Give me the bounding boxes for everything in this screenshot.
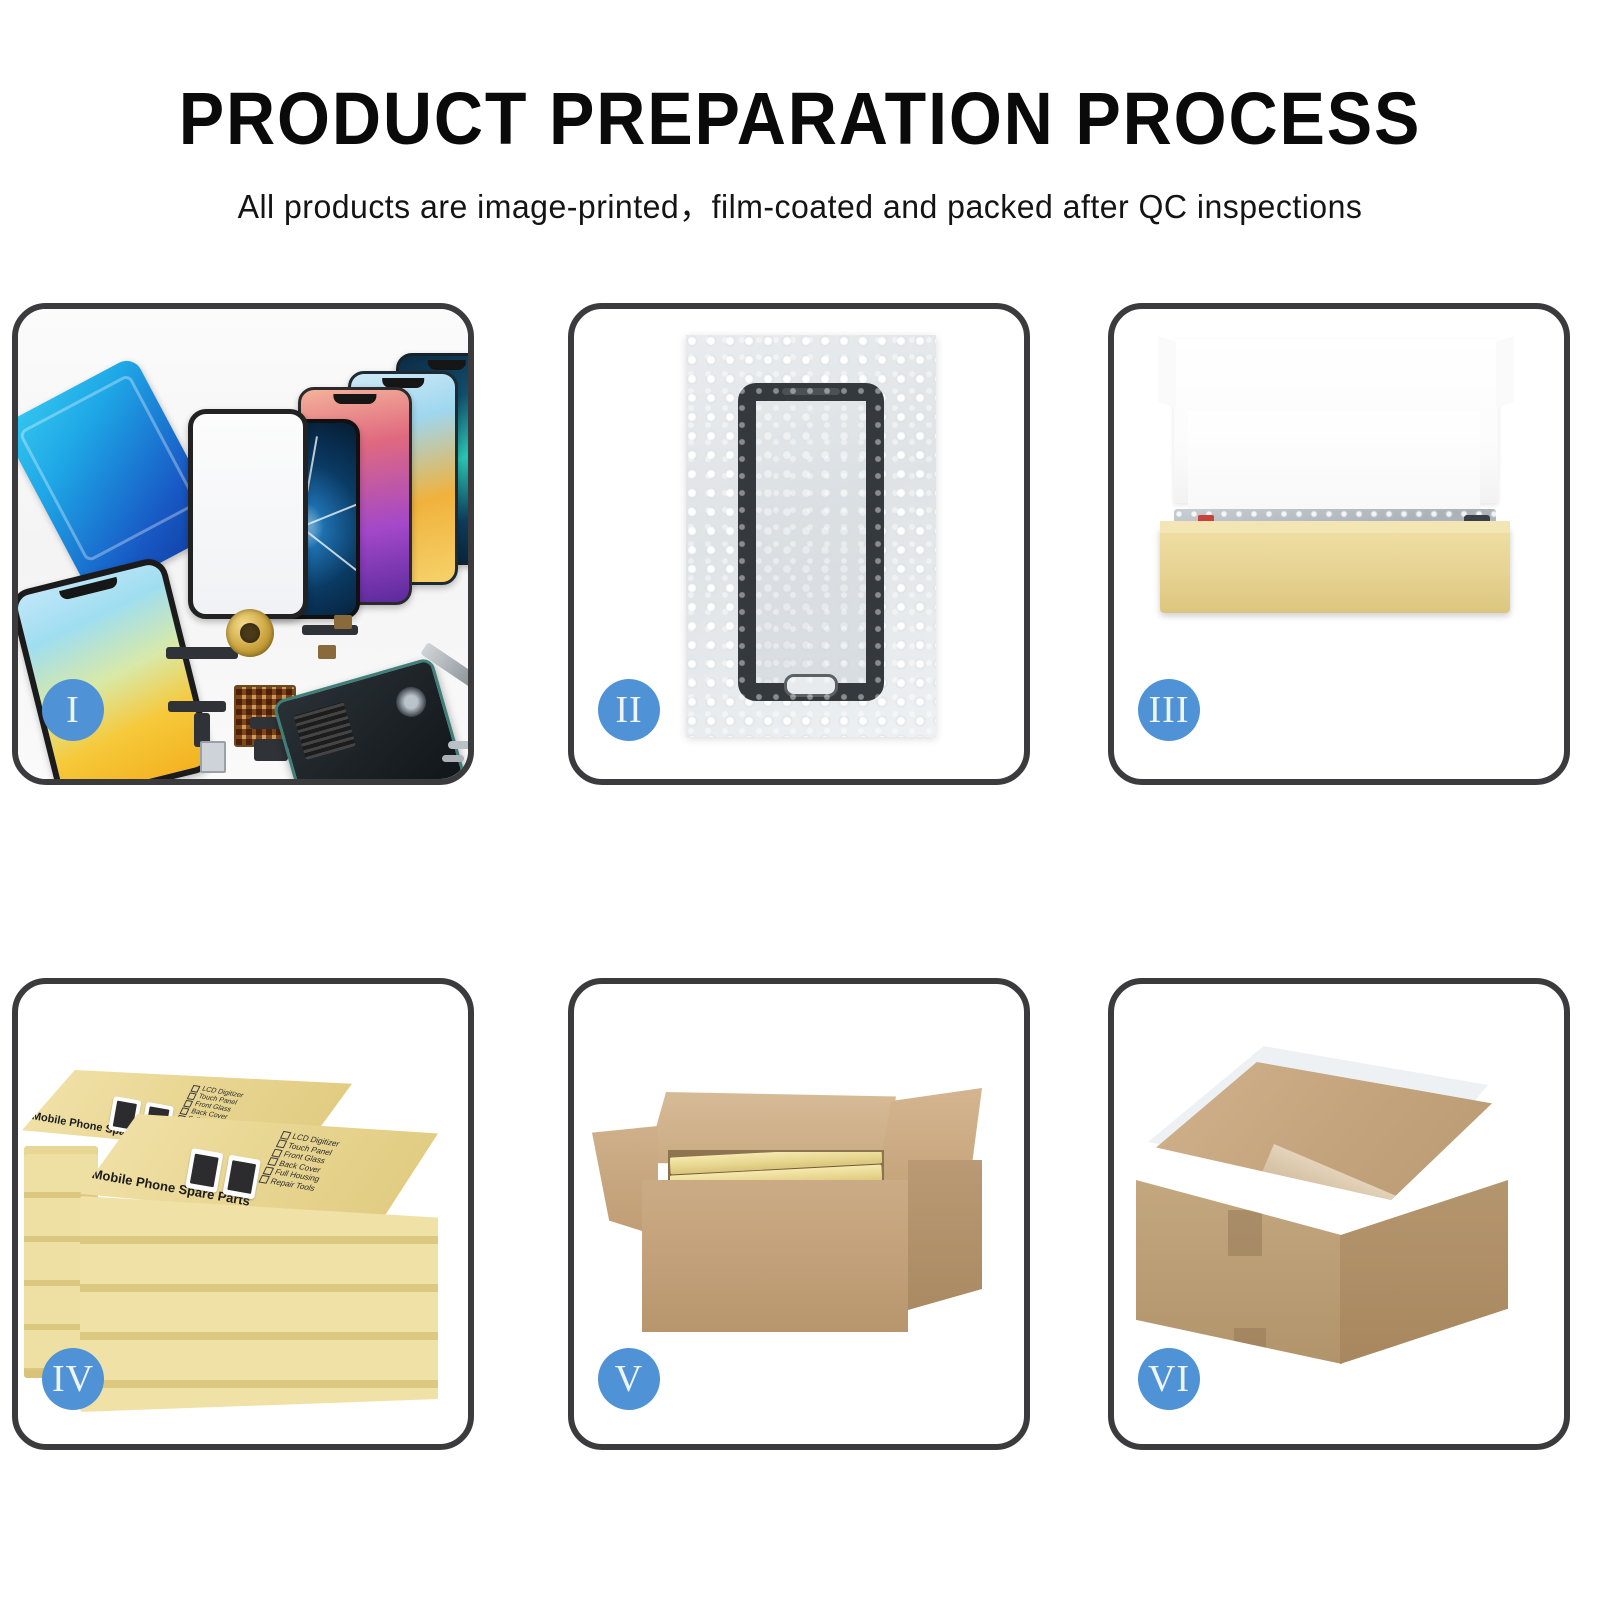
checkbox-icon	[191, 1084, 201, 1092]
front-glass-panel-image	[188, 409, 308, 619]
checkbox-icon	[187, 1092, 197, 1100]
carton-body	[642, 1180, 908, 1332]
step-panel-6[interactable]: VI	[1108, 978, 1570, 1450]
inner-box-kraft-tray	[1160, 527, 1510, 613]
checkbox-icon	[280, 1131, 292, 1140]
product-thumbnail	[222, 1155, 260, 1200]
camera-flex-cable-part	[168, 701, 226, 712]
screw-set-part	[442, 755, 464, 762]
retail-box-checklist: LCD Digitizer Touch Panel Front Glass Ba…	[258, 1130, 341, 1193]
checkbox-icon	[258, 1175, 270, 1184]
retail-box-stack-right	[80, 1196, 438, 1412]
step-badge-4: IV	[42, 1348, 104, 1410]
step-panel-2[interactable]: II	[568, 303, 1030, 785]
checkbox-icon	[267, 1157, 279, 1166]
step-panel-3[interactable]: III	[1108, 303, 1570, 785]
checkbox-icon	[263, 1166, 275, 1175]
sealed-carton-face-left	[1136, 1180, 1342, 1364]
step-badge-3: III	[1138, 679, 1200, 741]
step-panel-1[interactable]: I	[12, 303, 474, 785]
power-flex-connector	[318, 645, 336, 659]
antenna-flex-strip-part	[166, 647, 238, 659]
phone-notch	[333, 394, 376, 404]
checkbox-icon	[183, 1099, 193, 1107]
sealed-carton-face-right	[1340, 1180, 1508, 1364]
carton-seal-tab	[1228, 1210, 1262, 1256]
checkbox-icon	[180, 1107, 190, 1115]
product-thumbnail	[185, 1148, 223, 1193]
carton-side-right	[908, 1160, 982, 1310]
bubble-wrap-film	[686, 335, 936, 737]
bubble-wrap-overlay	[686, 335, 936, 737]
phone-notch	[59, 577, 119, 601]
step-badge-5: V	[598, 1348, 660, 1410]
step-panel-4[interactable]: Mobile Phone Spare Parts LCD Digitizer T…	[12, 978, 474, 1450]
step-badge-6: VI	[1138, 1348, 1200, 1410]
sim-tray-part	[200, 741, 226, 773]
phone-notch	[428, 360, 466, 370]
checkbox-icon	[276, 1140, 288, 1149]
checkbox-icon	[271, 1148, 283, 1157]
step-badge-2: II	[598, 679, 660, 741]
power-flex-connector	[334, 615, 352, 629]
step-badge-1: I	[42, 679, 104, 741]
speaker-coil-center	[240, 623, 260, 643]
process-step-grid: I II III	[0, 0, 1600, 1600]
step-panel-5[interactable]: V	[568, 978, 1030, 1450]
carton-seal-tab	[1234, 1328, 1266, 1368]
screw-set-part	[448, 741, 468, 749]
